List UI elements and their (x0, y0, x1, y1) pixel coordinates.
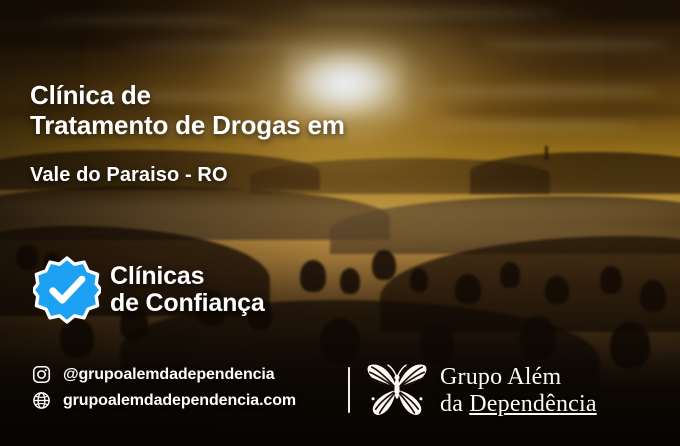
instagram-handle: @grupoalemdadependencia (63, 366, 275, 384)
trust-badge: Clínicas de Confiança (33, 256, 265, 324)
footer-divider (348, 367, 350, 413)
brand-logo[interactable]: Grupo Além da Dependência (364, 360, 597, 422)
page-title: Clínica de Tratamento de Drogas em (30, 80, 345, 140)
brand-name: Grupo Além da Dependência (440, 364, 597, 418)
brand-line-2-prefix: da (440, 391, 469, 417)
location-label: Vale do Paraiso - RO (30, 164, 228, 187)
brand-line-1: Grupo Além (440, 364, 561, 390)
website-url: grupoalemdadependencia.com (63, 392, 296, 410)
instagram-row[interactable]: @grupoalemdadependencia (32, 365, 296, 384)
butterfly-icon (364, 360, 430, 422)
promotional-banner: Clínica de Tratamento de Drogas em Vale … (0, 0, 680, 446)
trust-badge-label: Clínicas de Confiança (110, 263, 265, 317)
instagram-icon (32, 365, 51, 384)
contact-info: @grupoalemdadependencia grupoalemdadepen… (32, 365, 296, 410)
verified-check-badge-icon (33, 256, 101, 324)
brand-line-2-emphasis: Dependência (469, 391, 596, 417)
website-row[interactable]: grupoalemdadependencia.com (32, 391, 296, 410)
globe-icon (32, 391, 51, 410)
